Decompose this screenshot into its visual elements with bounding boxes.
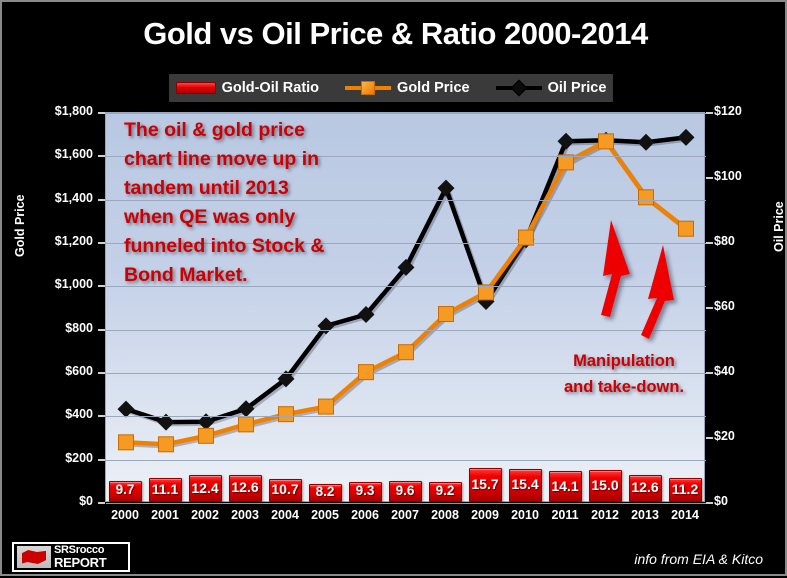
gold-data-point-marker [279, 407, 294, 422]
gold-data-point-marker [599, 134, 614, 149]
gold-data-point-marker [239, 417, 254, 432]
y-axis-right-title: Oil Price [772, 201, 786, 252]
x-axis-tick-label: 2006 [345, 508, 385, 522]
annotation-primary: The oil & gold price chart line move up … [124, 116, 324, 290]
gold-data-point-marker [159, 437, 174, 452]
x-axis-tick-label: 2011 [545, 508, 585, 522]
srsrocco-logo: SRSrocco REPORT [12, 542, 130, 572]
x-axis-tick-label: 2003 [225, 508, 265, 522]
y-axis-left-tick-label: $600 [65, 364, 93, 378]
oil-data-point-marker [558, 133, 575, 150]
y-axis-right-tick-label: $20 [714, 429, 735, 443]
y-axis-right-tick-label: $100 [714, 169, 742, 183]
oil-data-point-marker [678, 129, 695, 146]
y-axis-left-tick-label: $800 [65, 321, 93, 335]
y-axis-right-tick-mark [706, 437, 713, 439]
y-axis-left-tick-mark [98, 459, 105, 461]
gridline [106, 416, 706, 417]
legend-label-gold: Gold Price [397, 80, 470, 96]
y-axis-left-tick-mark [98, 112, 105, 114]
legend-item-gold: Gold Price [345, 80, 470, 96]
x-axis-tick-label: 2007 [385, 508, 425, 522]
y-axis-left-tick-mark [98, 415, 105, 417]
y-axis-left-tick-label: $1,600 [55, 147, 93, 161]
chart-frame: Gold vs Oil Price & Ratio 2000-2014 Gold… [0, 0, 787, 576]
y-axis-right-tick-mark [706, 242, 713, 244]
x-axis-tick-label: 2008 [425, 508, 465, 522]
page-title: Gold vs Oil Price & Ratio 2000-2014 [2, 16, 787, 52]
gridline [106, 503, 706, 504]
y-axis-left-tick-mark [98, 329, 105, 331]
gridline [106, 113, 706, 114]
y-axis-left-tick-label: $1,400 [55, 191, 93, 205]
y-axis-left-tick-label: $400 [65, 407, 93, 421]
y-axis-right-tick-mark [706, 112, 713, 114]
annotation-secondary: Manipulation and take-down. [529, 348, 719, 400]
chart-legend: Gold-Oil Ratio Gold Price Oil Price [169, 74, 613, 102]
x-axis-tick-label: 2014 [665, 508, 705, 522]
x-axis-tick-label: 2013 [625, 508, 665, 522]
x-axis-tick-label: 2001 [145, 508, 185, 522]
legend-label-oil: Oil Price [548, 80, 607, 96]
gold-data-point-marker [439, 307, 454, 322]
y-axis-right-tick-mark [706, 177, 713, 179]
x-axis-tick-label: 2010 [505, 508, 545, 522]
y-axis-left-tick-label: $1,800 [55, 104, 93, 118]
logo-mark-icon [17, 546, 51, 568]
y-axis-right-tick-label: $0 [714, 494, 728, 508]
y-axis-right-tick-label: $80 [714, 234, 735, 248]
gold-data-point-marker [679, 221, 694, 236]
x-axis-tick-label: 2012 [585, 508, 625, 522]
y-axis-right-tick-mark [706, 502, 713, 504]
red-bar-swatch-icon [176, 82, 216, 94]
y-axis-left-tick-mark [98, 242, 105, 244]
x-axis-tick-label: 2002 [185, 508, 225, 522]
legend-item-oil: Oil Price [496, 80, 607, 96]
black-line-diamond-marker-icon [496, 81, 542, 95]
y-axis-left-tick-mark [98, 155, 105, 157]
ratio-bar-value-label: 11.2 [662, 481, 708, 497]
gridline [106, 330, 706, 331]
x-axis-tick-label: 2009 [465, 508, 505, 522]
gold-data-point-marker [399, 345, 414, 360]
y-axis-left-title: Gold Price [13, 194, 27, 257]
gridline [106, 460, 706, 461]
y-axis-right-tick-mark [706, 307, 713, 309]
y-axis-left-tick-mark [98, 502, 105, 504]
logo-line-2: REPORT [54, 556, 106, 569]
y-axis-left-tick-mark [98, 285, 105, 287]
oil-data-point-marker [638, 134, 655, 151]
y-axis-left-tick-label: $200 [65, 451, 93, 465]
y-axis-left-tick-mark [98, 199, 105, 201]
legend-item-ratio: Gold-Oil Ratio [176, 80, 319, 96]
gold-data-point-marker [119, 435, 134, 450]
logo-text: SRSrocco REPORT [54, 545, 106, 569]
legend-label-ratio: Gold-Oil Ratio [222, 80, 319, 96]
y-axis-left-tick-label: $0 [79, 494, 93, 508]
oil-data-point-marker [438, 180, 455, 197]
y-axis-left-tick-mark [98, 372, 105, 374]
x-axis-tick-label: 2005 [305, 508, 345, 522]
x-axis-tick-label: 2004 [265, 508, 305, 522]
gold-data-point-marker [639, 190, 654, 205]
orange-line-square-marker-icon [345, 81, 391, 95]
oil-data-point-marker [118, 401, 135, 418]
source-credit: info from EIA & Kitco [634, 551, 763, 567]
gold-data-point-marker [199, 428, 214, 443]
y-axis-right-tick-label: $120 [714, 104, 742, 118]
gold-data-point-marker [319, 399, 334, 414]
x-axis-tick-label: 2000 [105, 508, 145, 522]
y-axis-left-tick-label: $1,200 [55, 234, 93, 248]
y-axis-left-tick-label: $1,000 [55, 277, 93, 291]
y-axis-right-tick-label: $60 [714, 299, 735, 313]
